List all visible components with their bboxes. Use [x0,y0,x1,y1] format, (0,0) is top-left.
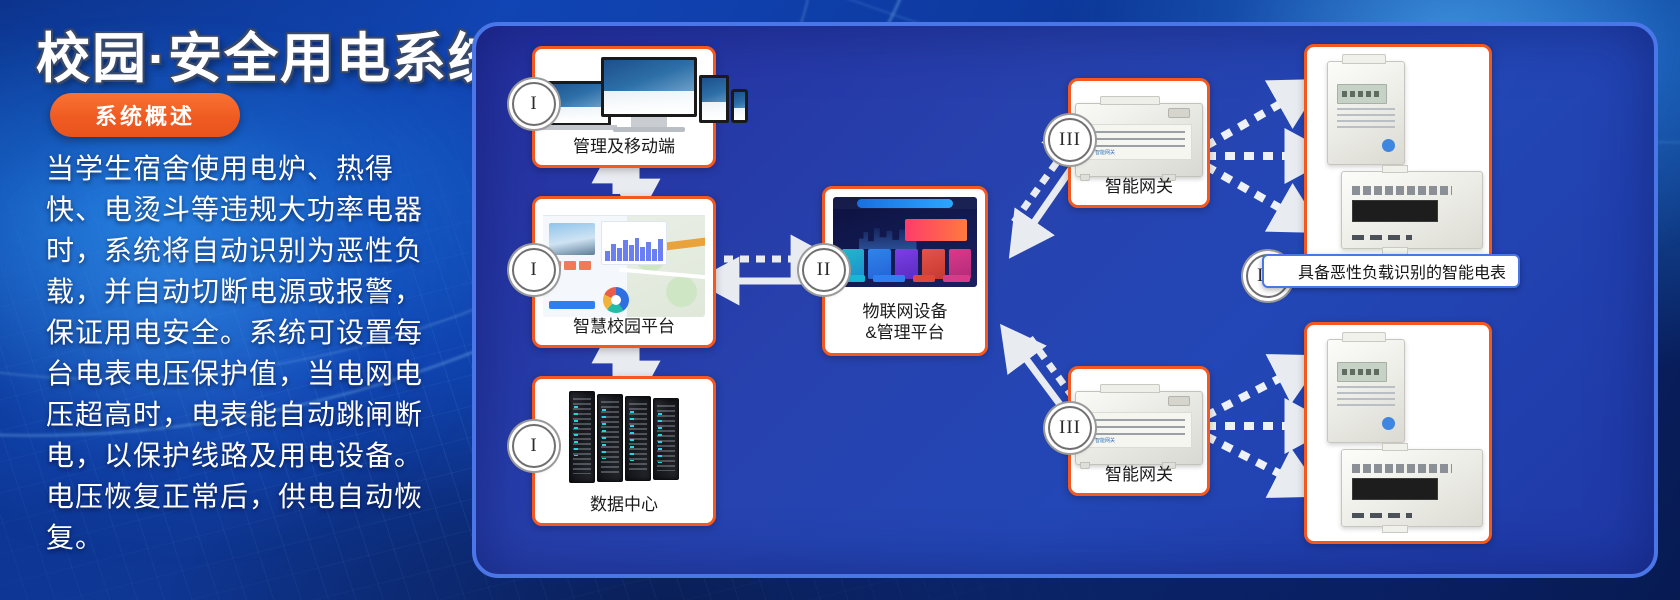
numeral-badge-iot-platform: II [802,248,846,292]
numeral-badge-smart-campus: I [512,248,556,292]
node-gateway-bottom-label: 智能网关 [1071,464,1207,485]
arrow-campus-iot [724,259,806,281]
meters-callout-label[interactable]: 具备恶性负载识别的智能电表 [1262,254,1520,288]
node-iot-platform-label: 物联网设备 &管理平台 [825,301,985,343]
node-admin-mobile[interactable]: 管理及移动端 [532,46,716,168]
node-data-center[interactable]: 数据中心 [532,376,716,526]
iot-dashboard-icon [833,197,977,287]
node-iot-platform-label-line2: &管理平台 [825,322,985,343]
arrow-campus-datacenter [616,348,636,376]
monitor-laptop-tablet-phone-icon [535,55,713,141]
node-meters-bottom[interactable] [1304,322,1492,544]
system-description: 当学生宿舍使用电炉、热得快、电烫斗等违规大功率电器时，系统将自动识别为恶性负载，… [46,148,436,558]
section-badge: 系统概述 [50,93,240,137]
node-admin-mobile-label: 管理及移动端 [535,136,713,157]
architecture-diagram-panel: 管理及移动端 I 智慧校园平台 I 数据中心 I [472,22,1658,578]
dashboard-map-icon [543,207,705,317]
node-gateway-top-label: 智能网关 [1071,176,1207,197]
numeral-badge-gateway-top: III [1048,118,1092,162]
page-title: 校园·安全用电系统 [36,14,504,93]
numeral-badge-data-center: I [512,424,556,468]
node-iot-platform-label-line1: 物联网设备 [825,301,985,322]
meters-callout-text: 具备恶性负载识别的智能电表 [1298,259,1506,283]
arrow-gateway-top-meters [1206,96,1302,216]
numeral-badge-gateway-bottom: III [1048,406,1092,450]
node-data-center-label: 数据中心 [535,494,713,515]
intro-column: 校园·安全用电系统 系统概述 当学生宿舍使用电炉、热得快、电烫斗等违规大功率电器… [0,0,470,600]
node-smart-campus-label: 智慧校园平台 [535,316,713,337]
arrow-admin-campus [616,168,636,194]
node-smart-campus[interactable]: 智慧校园平台 [532,196,716,348]
node-meters-top[interactable] [1304,44,1492,266]
arrow-gateway-bottom-meters [1206,371,1302,481]
node-iot-platform[interactable]: 物联网设备 &管理平台 [822,186,988,356]
server-rack-icon [535,391,713,483]
numeral-badge-admin-mobile: I [512,82,556,126]
